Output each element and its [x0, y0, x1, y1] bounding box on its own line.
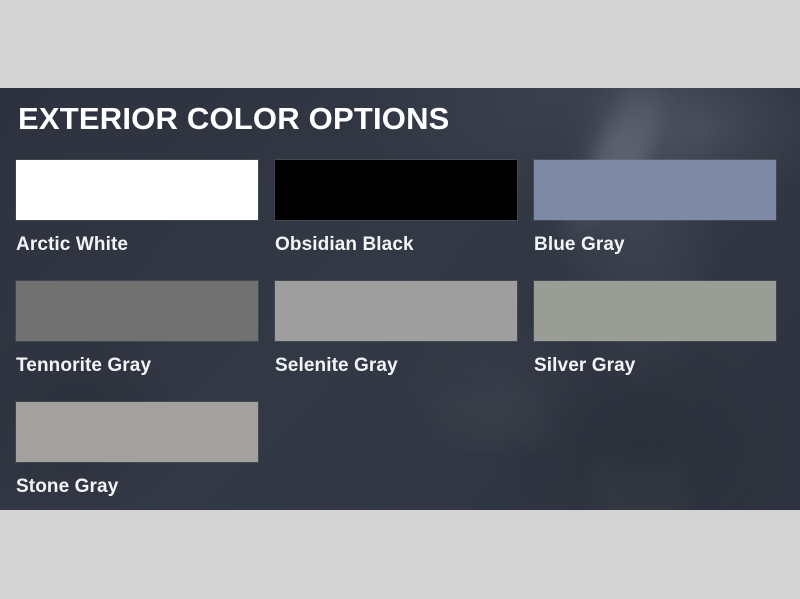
- swatch-label: Blue Gray: [534, 234, 776, 256]
- color-swatch[interactable]: [16, 402, 258, 462]
- swatch-cell-tennorite-gray[interactable]: Tennorite Gray: [16, 281, 258, 402]
- swatch-cell-blue-gray[interactable]: Blue Gray: [534, 160, 776, 281]
- swatch-label: Tennorite Gray: [16, 355, 258, 377]
- swatch-cell-obsidian-black[interactable]: Obsidian Black: [275, 160, 517, 281]
- swatch-label: Silver Gray: [534, 355, 776, 377]
- swatch-grid: Arctic White Obsidian Black Blue Gray Te…: [16, 160, 778, 510]
- swatch-cell-selenite-gray[interactable]: Selenite Gray: [275, 281, 517, 402]
- color-swatch[interactable]: [534, 281, 776, 341]
- page-title: EXTERIOR COLOR OPTIONS: [18, 100, 450, 138]
- color-swatch[interactable]: [275, 281, 517, 341]
- swatch-label: Arctic White: [16, 234, 258, 256]
- swatch-label: Stone Gray: [16, 476, 258, 498]
- swatch-cell-arctic-white[interactable]: Arctic White: [16, 160, 258, 281]
- swatch-cell-stone-gray[interactable]: Stone Gray: [16, 402, 258, 510]
- swatch-label: Obsidian Black: [275, 234, 517, 256]
- swatch-cell-silver-gray[interactable]: Silver Gray: [534, 281, 776, 402]
- swatch-label: Selenite Gray: [275, 355, 517, 377]
- color-swatch[interactable]: [16, 160, 258, 220]
- screenshot-stage: EXTERIOR COLOR OPTIONS Arctic White Obsi…: [0, 0, 800, 599]
- color-swatch[interactable]: [275, 160, 517, 220]
- color-swatch[interactable]: [16, 281, 258, 341]
- color-swatch[interactable]: [534, 160, 776, 220]
- color-options-panel: EXTERIOR COLOR OPTIONS Arctic White Obsi…: [0, 88, 800, 510]
